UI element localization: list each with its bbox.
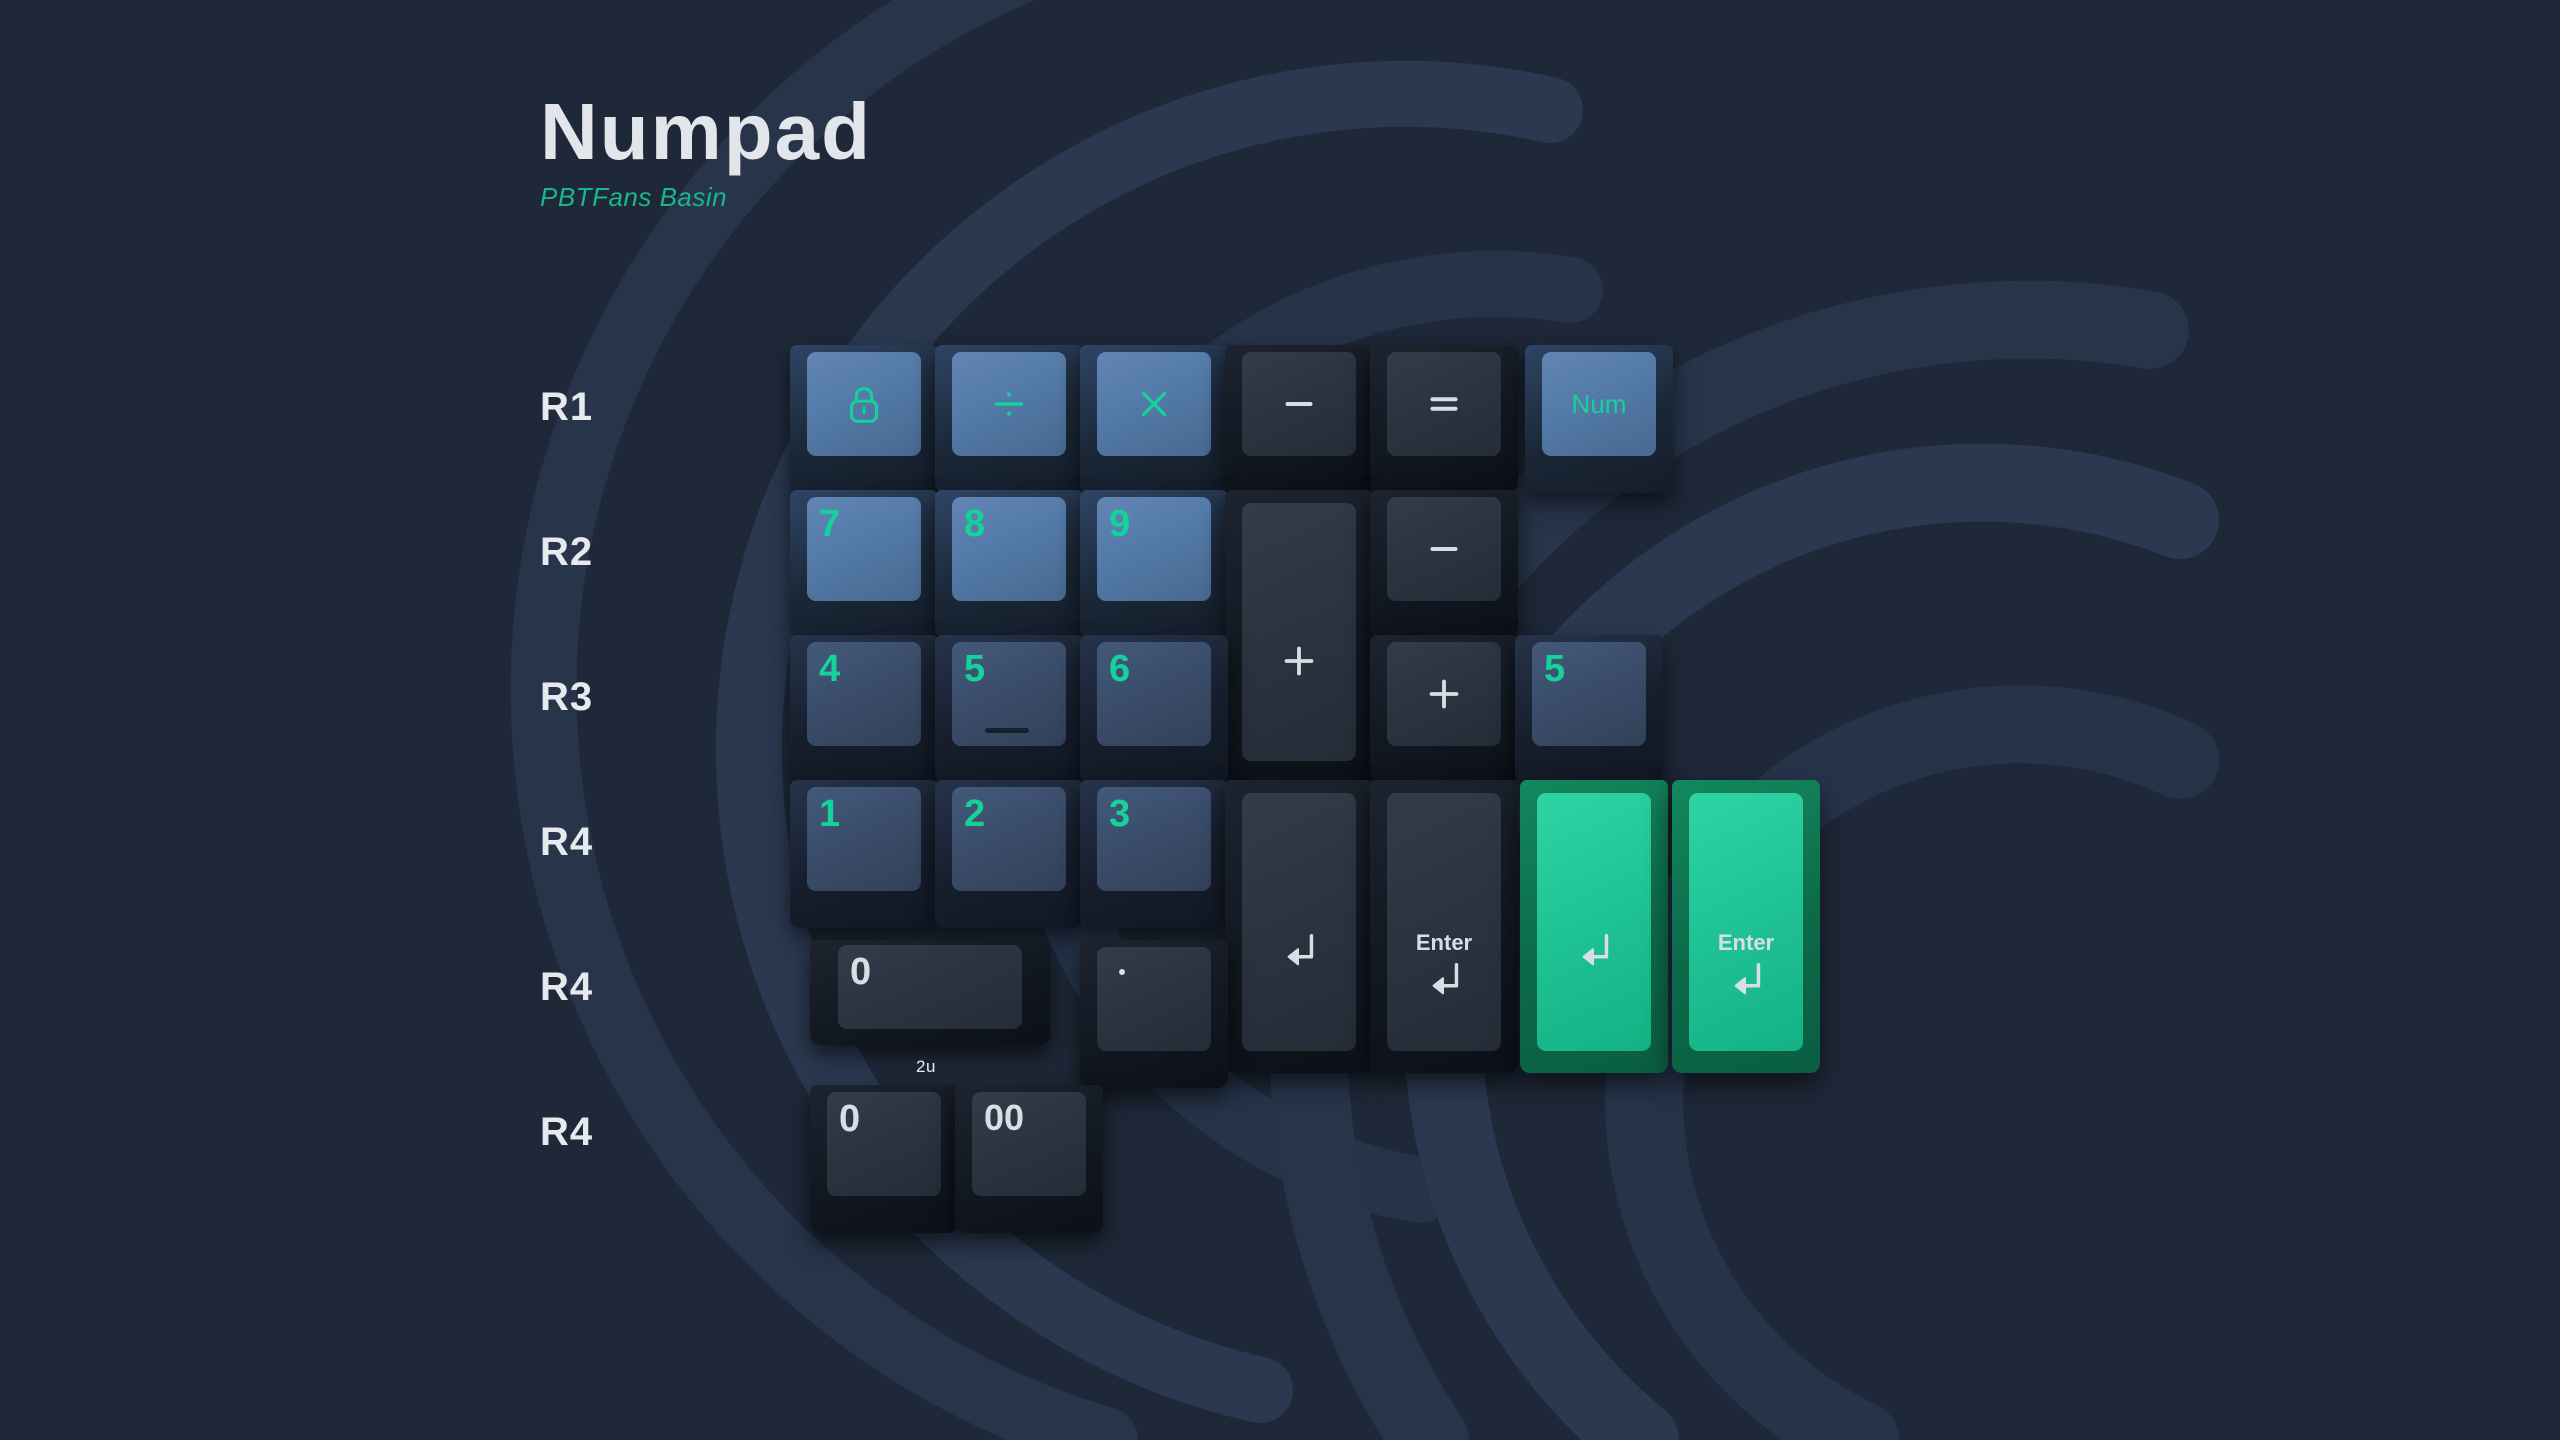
return-arrow-icon xyxy=(1225,927,1373,975)
five-alt-key[interactable]: 5 xyxy=(1515,635,1663,783)
minus-icon xyxy=(1242,352,1356,456)
return-arrow-icon xyxy=(1672,956,1820,1004)
five-homing-key[interactable]: 5 xyxy=(935,635,1083,783)
two-key[interactable]: 2 xyxy=(935,780,1083,928)
multiply-key[interactable] xyxy=(1080,345,1228,493)
equals-key[interactable] xyxy=(1370,345,1518,493)
keycap-legend-text: 9 xyxy=(1109,505,1130,543)
keycap-legend-text: 8 xyxy=(964,505,985,543)
dot-icon xyxy=(1107,957,1137,987)
num-key[interactable]: Num xyxy=(1525,345,1673,493)
return-arrow-icon xyxy=(1520,927,1668,975)
minus-r2-key[interactable] xyxy=(1370,490,1518,638)
keycap-legend-text: 00 xyxy=(984,1100,1024,1136)
plus-2u-key[interactable] xyxy=(1225,490,1373,783)
minus-r1-key[interactable] xyxy=(1225,345,1373,493)
divide-key[interactable] xyxy=(935,345,1083,493)
nine-key[interactable]: 9 xyxy=(1080,490,1228,638)
keycap-legend-text: 5 xyxy=(1544,650,1565,688)
keycap-legend-text: Num xyxy=(1542,352,1656,456)
plus-icon xyxy=(1225,637,1373,685)
homing-bar xyxy=(985,728,1029,733)
eight-key[interactable]: 8 xyxy=(935,490,1083,638)
enter-text-key[interactable]: Enter xyxy=(1370,780,1518,1073)
enter-green-arrow-key[interactable] xyxy=(1520,780,1668,1073)
keycap-top-face xyxy=(1689,793,1803,1051)
keycap-legend-text: 1 xyxy=(819,795,840,833)
plus-icon xyxy=(1387,642,1501,746)
keycap-board: Num7894565123EnterEnter00002u xyxy=(0,0,2560,1440)
doublezero-key[interactable]: 00 xyxy=(955,1085,1103,1233)
keycap-top-face xyxy=(1387,793,1501,1051)
keycap-legend-text: 3 xyxy=(1109,795,1130,833)
one-key[interactable]: 1 xyxy=(790,780,938,928)
multiply-icon xyxy=(1097,352,1211,456)
keycap-top-face xyxy=(1242,793,1356,1051)
keycap-legend-text: 4 xyxy=(819,650,840,688)
keycap-legend-text: 6 xyxy=(1109,650,1130,688)
keycap-legend-text: 0 xyxy=(839,1100,860,1138)
zero-1u-key[interactable]: 0 xyxy=(810,1085,958,1233)
numlock-key[interactable] xyxy=(790,345,938,493)
keycap-legend-text: 5 xyxy=(964,650,985,688)
lock-icon xyxy=(807,352,921,456)
keycap-top-face xyxy=(1537,793,1651,1051)
three-key[interactable]: 3 xyxy=(1080,780,1228,928)
unit-annotation-2u: 2u xyxy=(916,1057,936,1077)
enter-green-text-key[interactable]: Enter xyxy=(1672,780,1820,1073)
keycap-legend-text: Enter xyxy=(1672,932,1820,954)
plus-r3-key[interactable] xyxy=(1370,635,1518,783)
enter-arrow-key[interactable] xyxy=(1225,780,1373,1073)
minus-icon xyxy=(1387,497,1501,601)
keycap-legend-text: 7 xyxy=(819,505,840,543)
keycap-legend-text: 2 xyxy=(964,795,985,833)
four-key[interactable]: 4 xyxy=(790,635,938,783)
seven-key[interactable]: 7 xyxy=(790,490,938,638)
zero-2u-key[interactable]: 0 xyxy=(810,940,1050,1045)
keycap-top-face xyxy=(1242,503,1356,761)
dot-key[interactable] xyxy=(1080,940,1228,1088)
six-key[interactable]: 6 xyxy=(1080,635,1228,783)
keycap-legend-text: Enter xyxy=(1370,932,1518,954)
return-arrow-icon xyxy=(1370,956,1518,1004)
keycap-legend-text: 0 xyxy=(850,953,871,991)
equals-icon xyxy=(1387,352,1501,456)
divide-icon xyxy=(952,352,1066,456)
